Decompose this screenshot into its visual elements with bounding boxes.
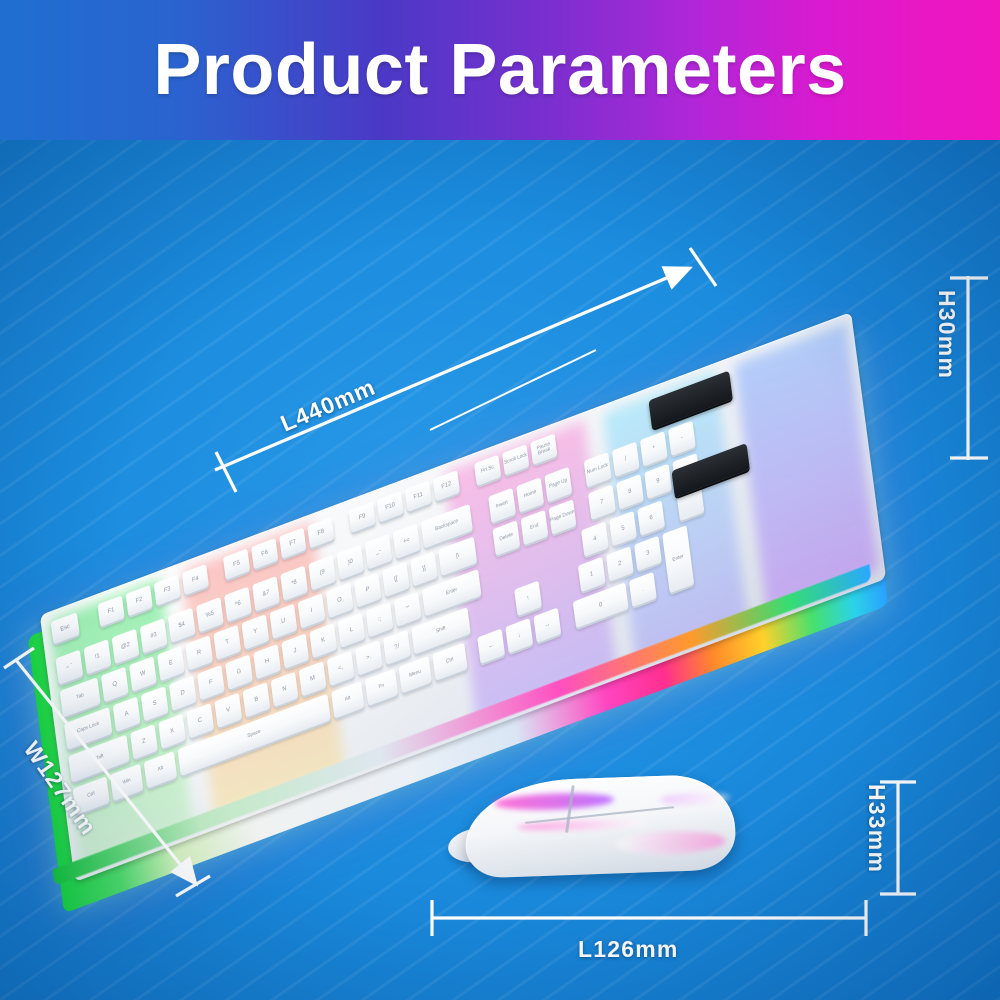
key-f11[interactable]: F11 xyxy=(405,481,432,512)
key-bracket-left[interactable]: {[ xyxy=(382,562,410,598)
key-f8[interactable]: F8 xyxy=(307,517,334,548)
label-mouse-height: H33mm xyxy=(863,784,890,873)
key-period[interactable]: >. xyxy=(355,640,383,676)
key-comma[interactable]: <, xyxy=(327,651,355,687)
key-numpad-2[interactable]: 2 xyxy=(606,546,634,582)
key-minus[interactable]: _- xyxy=(365,534,393,570)
key-bracket-right[interactable]: }] xyxy=(410,551,438,587)
label-mouse-length: L126mm xyxy=(578,936,679,963)
key-o[interactable]: O xyxy=(326,583,354,619)
label-keyboard-height: H30mm xyxy=(933,290,960,379)
keyboard-illustration: Esc F1 F2 F3 F4 F5 F6 F7 F8 F9 F10 F11 F… xyxy=(0,230,980,860)
key-p[interactable]: P xyxy=(354,572,382,608)
key-f9[interactable]: F9 xyxy=(348,502,375,533)
key-0[interactable]: )0 xyxy=(336,544,364,580)
key-r[interactable]: R xyxy=(185,635,213,671)
mouse-illustration xyxy=(430,770,760,900)
key-c[interactable]: C xyxy=(186,703,214,739)
header-banner: Product Parameters xyxy=(0,0,1000,140)
page-title: Product Parameters xyxy=(153,34,846,106)
key-f10[interactable]: F10 xyxy=(377,491,404,522)
mouse-shell xyxy=(463,773,736,878)
key-slash[interactable]: ?/ xyxy=(383,630,411,666)
product-parameters-infographic: Product Parameters Esc F1 F2 F3 F4 F5 xyxy=(0,0,1000,1000)
key-equals[interactable]: += xyxy=(393,523,421,559)
